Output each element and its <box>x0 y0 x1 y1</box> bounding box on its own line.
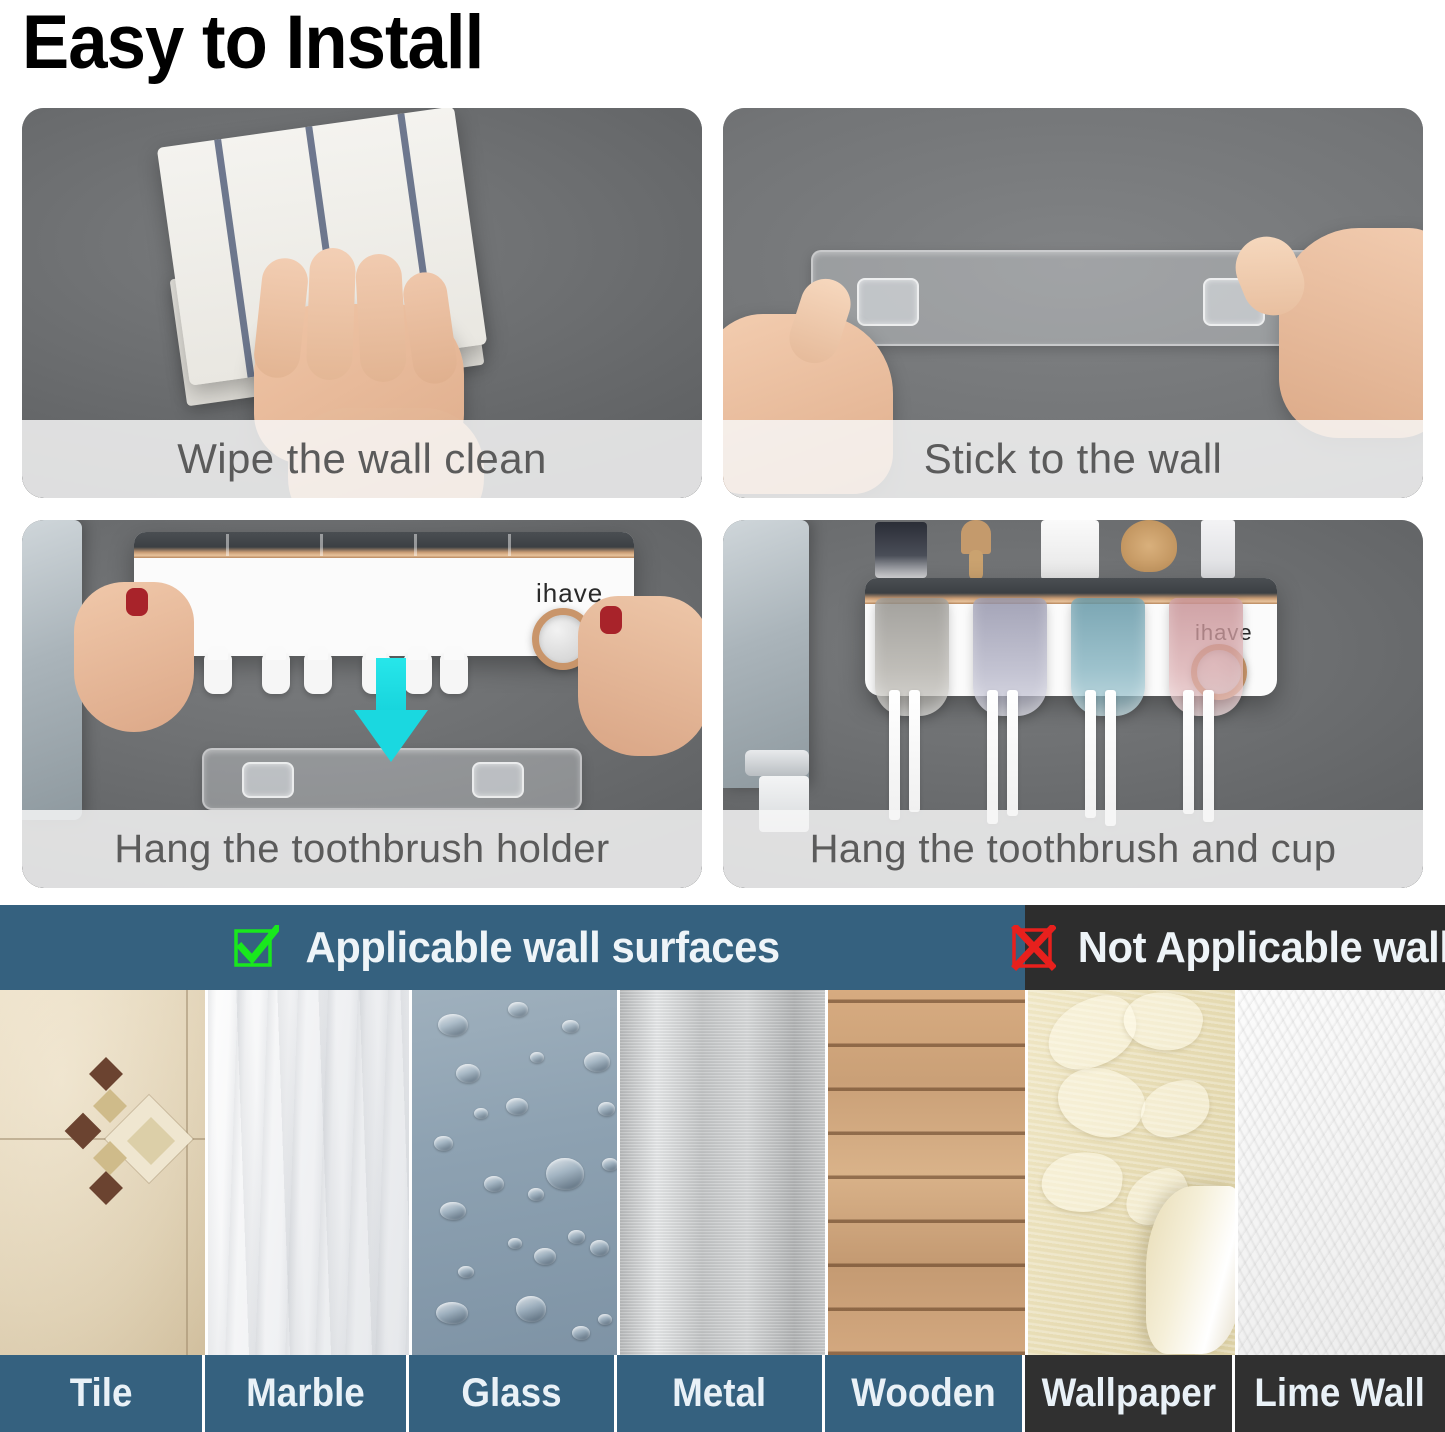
toothbrush <box>1183 690 1194 814</box>
install-steps-grid: Wipe the wall clean Stick to the wall <box>0 105 1445 895</box>
step-panel-hang-brush: ihave Hang <box>723 520 1423 888</box>
toothbrush <box>1203 690 1214 822</box>
swatch-lime-wall <box>1235 990 1445 1355</box>
swatch-tile <box>0 990 205 1355</box>
not-applicable-banner-label: Not Applicable wall <box>1078 923 1445 973</box>
swatch-glass <box>409 990 617 1355</box>
fingernail <box>600 606 622 634</box>
surface-label-tile: Tile <box>0 1355 205 1432</box>
surface-banner-row: Applicable wall surfaces Not Applicable … <box>0 905 1445 990</box>
down-arrow-icon <box>354 658 428 762</box>
applicable-banner: Applicable wall surfaces <box>0 905 1025 990</box>
infographic-page: Easy to Install Wipe the wal <box>0 0 1445 1432</box>
toothbrush <box>1105 690 1116 826</box>
toothbrush <box>1007 690 1018 816</box>
surface-label-wooden: Wooden <box>825 1355 1025 1432</box>
adhesive-hook <box>857 278 919 326</box>
fingernail <box>126 588 148 616</box>
x-box-icon <box>1010 925 1056 971</box>
caption-hang-holder: Hang the toothbrush holder <box>22 810 702 888</box>
step-panel-stick: Stick to the wall <box>723 108 1423 498</box>
surface-label-metal: Metal <box>617 1355 825 1432</box>
surface-label-wallpaper: Wallpaper <box>1025 1355 1235 1432</box>
makeup-brush <box>961 520 991 554</box>
caption-stick: Stick to the wall <box>723 420 1423 498</box>
brush-clip <box>304 654 332 694</box>
finger <box>355 253 408 383</box>
hand-right <box>578 596 702 756</box>
step-panel-wipe: Wipe the wall clean <box>22 108 702 498</box>
cosmetic-tube <box>1041 520 1099 580</box>
applicable-banner-label: Applicable wall surfaces <box>305 923 779 973</box>
swatch-wooden <box>825 990 1025 1355</box>
makeup-brush-handle <box>969 550 983 580</box>
toothbrush <box>889 690 900 820</box>
surface-label-row: Tile Marble Glass Metal Wooden Wallpaper… <box>0 1355 1445 1432</box>
hair-brush <box>1121 520 1177 572</box>
hand-right <box>1279 228 1423 438</box>
swatch-marble <box>205 990 409 1355</box>
caption-wipe: Wipe the wall clean <box>22 420 702 498</box>
mirror-edge <box>723 520 809 788</box>
wallpaper-curl <box>1146 1186 1235 1354</box>
surface-label-lime-wall: Lime Wall <box>1235 1355 1445 1432</box>
toothbrush <box>987 690 998 824</box>
perfume-bottle <box>875 522 927 578</box>
toothbrush <box>909 690 920 812</box>
holder-top-tray <box>134 532 634 558</box>
wall-surfaces-section: Applicable wall surfaces Not Applicable … <box>0 905 1445 1432</box>
brush-clip <box>204 654 232 694</box>
surface-swatch-row <box>0 990 1445 1355</box>
toothbrush <box>1085 690 1096 818</box>
surface-label-glass: Glass <box>409 1355 617 1432</box>
check-box-icon <box>233 925 279 971</box>
finger <box>306 247 357 381</box>
faucet <box>745 750 809 776</box>
swatch-metal <box>617 990 825 1355</box>
brush-clip <box>262 654 290 694</box>
step-panel-hang-holder: ihave <box>22 520 702 888</box>
not-applicable-banner: Not Applicable wall <box>1025 905 1445 990</box>
caption-hang-brush: Hang the toothbrush and cup <box>723 810 1423 888</box>
swatch-wallpaper <box>1025 990 1235 1355</box>
lotion-bottle <box>1201 520 1235 578</box>
adhesive-hook <box>242 762 294 798</box>
toothbrush-holder: ihave <box>134 532 634 656</box>
brush-clip <box>440 654 468 694</box>
mirror-edge <box>22 520 82 820</box>
adhesive-hook <box>472 762 524 798</box>
page-title: Easy to Install <box>22 0 483 88</box>
surface-label-marble: Marble <box>205 1355 409 1432</box>
